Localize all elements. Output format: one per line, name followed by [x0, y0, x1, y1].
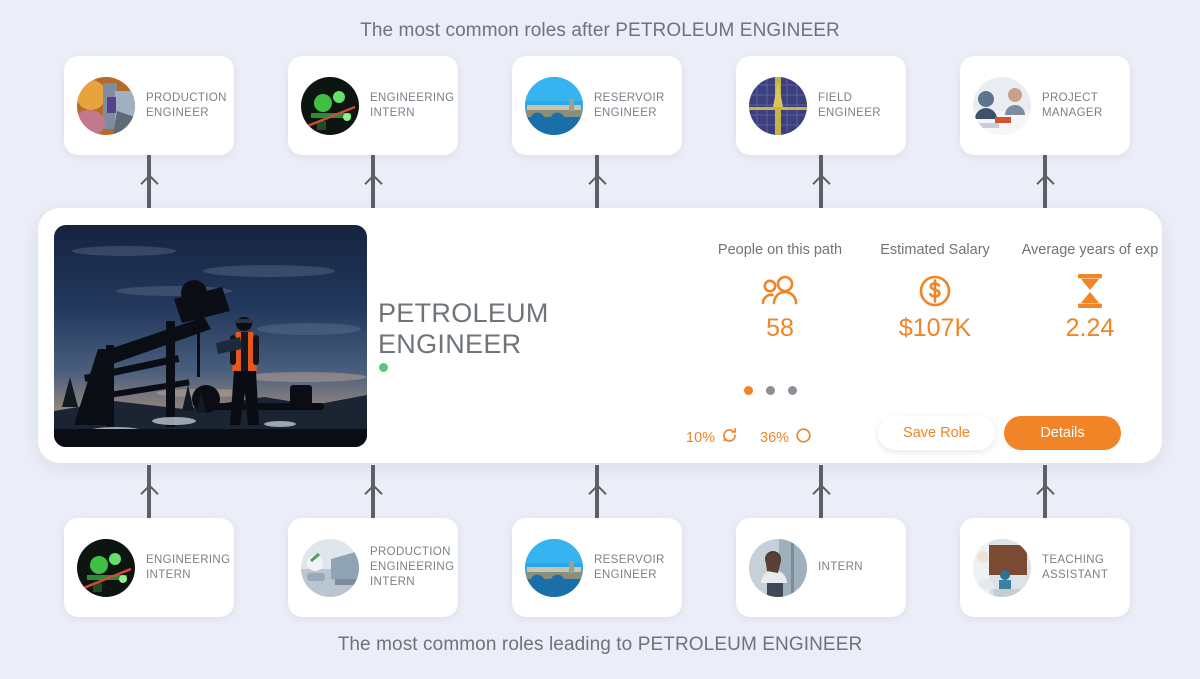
upper-connector-arrowhead-up-icon: [1036, 174, 1054, 192]
role-avatar: [973, 77, 1031, 135]
stat-label: Average years of exp: [990, 242, 1190, 258]
role-label: INTERN: [818, 560, 863, 575]
role-after-card[interactable]: PROJECTMANAGER: [960, 56, 1130, 155]
role-avatar: [77, 77, 135, 135]
carousel-dot-3[interactable]: [788, 386, 797, 395]
role-label: ENGINEERINGINTERN: [370, 91, 454, 121]
role-after-card[interactable]: FIELDENGINEER: [736, 56, 906, 155]
role-avatar: [525, 77, 583, 135]
transition-rate-metric: 10%: [686, 427, 738, 448]
role-label: PRODUCTIONENGINEERINGINTERN: [370, 545, 454, 590]
stat-value: 2.24: [990, 314, 1190, 343]
role-label: PRODUCTIONENGINEER: [146, 91, 227, 121]
role-label: RESERVOIRENGINEER: [594, 91, 665, 121]
role-label: PROJECTMANAGER: [1042, 91, 1103, 121]
upper-connector-arrowhead-up-icon: [588, 174, 606, 192]
role-before-card[interactable]: INTERN: [736, 518, 906, 617]
bottom-caption: The most common roles leading to PETROLE…: [0, 634, 1200, 656]
main-role-card[interactable]: PETROLEUMENGINEER People on this path 58…: [38, 208, 1162, 463]
upper-connector-arrowhead-up-icon: [364, 174, 382, 192]
lower-connector-arrowhead-up-icon: [140, 484, 158, 502]
lower-connector-arrowhead-up-icon: [364, 484, 382, 502]
upper-connector-arrowhead-up-icon: [812, 174, 830, 192]
carousel-dot-1[interactable]: [744, 386, 753, 395]
role-label: RESERVOIRENGINEER: [594, 553, 665, 583]
role-after-card[interactable]: PRODUCTIONENGINEER: [64, 56, 234, 155]
main-role-photo: [54, 225, 367, 447]
role-after-card[interactable]: RESERVOIRENGINEER: [512, 56, 682, 155]
upper-connector-arrowhead-up-icon: [140, 174, 158, 192]
role-before-card[interactable]: TEACHINGASSISTANT: [960, 518, 1130, 617]
retention-rate-value: 36%: [760, 430, 789, 446]
role-avatar: [77, 539, 135, 597]
role-label: ENGINEERINGINTERN: [146, 553, 230, 583]
stat-average-years-exp: Average years of exp 2.24: [990, 242, 1190, 343]
carousel-dots[interactable]: [38, 386, 1162, 395]
role-avatar: [301, 539, 359, 597]
carousel-dot-2[interactable]: [766, 386, 775, 395]
role-avatar: [749, 77, 807, 135]
role-label: TEACHINGASSISTANT: [1042, 553, 1108, 583]
lower-connector-arrowhead-up-icon: [812, 484, 830, 502]
refresh-circle-icon: [721, 427, 738, 448]
role-after-card[interactable]: ENGINEERINGINTERN: [288, 56, 458, 155]
percentage-row: 10% 36%: [686, 427, 812, 448]
details-button[interactable]: Details: [1004, 416, 1121, 450]
role-label: FIELDENGINEER: [818, 91, 881, 121]
role-before-card[interactable]: RESERVOIRENGINEER: [512, 518, 682, 617]
hourglass-icon: [990, 270, 1190, 312]
top-caption: The most common roles after PETROLEUM EN…: [0, 20, 1200, 42]
status-dot: [379, 363, 388, 372]
role-before-card[interactable]: ENGINEERINGINTERN: [64, 518, 234, 617]
role-before-card[interactable]: PRODUCTIONENGINEERINGINTERN: [288, 518, 458, 617]
role-avatar: [973, 539, 1031, 597]
circle-outline-icon: [795, 427, 812, 448]
lower-connector-arrowhead-up-icon: [588, 484, 606, 502]
retention-rate-metric: 36%: [760, 427, 812, 448]
lower-connector-arrowhead-up-icon: [1036, 484, 1054, 502]
role-avatar: [749, 539, 807, 597]
save-role-button[interactable]: Save Role: [878, 416, 995, 450]
transition-rate-value: 10%: [686, 430, 715, 446]
role-avatar: [525, 539, 583, 597]
main-role-title: PETROLEUMENGINEER: [378, 298, 668, 360]
role-avatar: [301, 77, 359, 135]
